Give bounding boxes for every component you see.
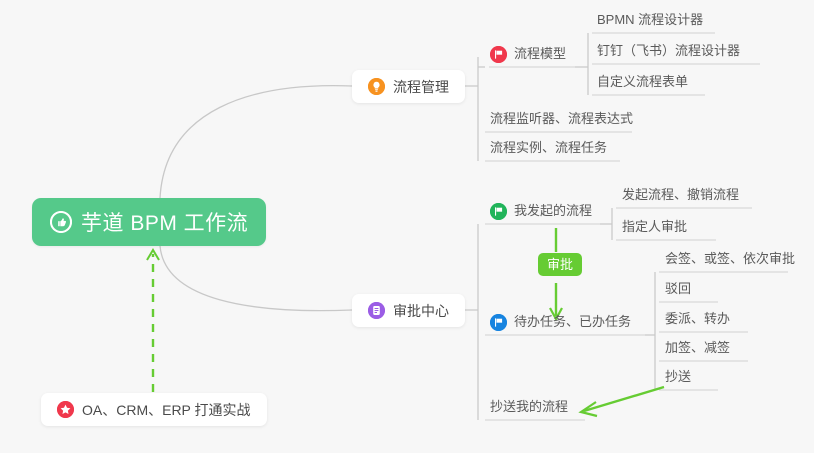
node-label-custom-process-form: 自定义流程表单	[597, 69, 688, 95]
root-node[interactable]: 芋道 BPM 工作流	[32, 198, 266, 246]
lightbulb-icon	[368, 78, 385, 95]
node-cc-to-me[interactable]: 抄送我的流程	[490, 394, 568, 420]
node-label-assignee-approval: 指定人审批	[622, 214, 687, 240]
mindmap-canvas: 芋道 BPM 工作流 OA、CRM、ERP 打通实战 流程管理	[0, 0, 814, 453]
thumbs-up-icon	[50, 211, 72, 233]
branch-node-approval-center[interactable]: 审批中心	[352, 294, 465, 327]
tag-approval[interactable]: 审批	[538, 253, 582, 276]
node-label-start-cancel-process: 发起流程、撤销流程	[622, 182, 739, 208]
node-bpmn-designer[interactable]: BPMN 流程设计器	[597, 7, 703, 33]
star-icon	[57, 401, 74, 418]
node-add-remove-sign[interactable]: 加签、减签	[665, 335, 730, 361]
node-listener-expression[interactable]: 流程监听器、流程表达式	[490, 106, 633, 132]
node-label-countersign: 会签、或签、依次审批	[665, 246, 795, 272]
note-node-integration[interactable]: OA、CRM、ERP 打通实战	[41, 393, 267, 426]
node-cc[interactable]: 抄送	[665, 364, 691, 390]
link-root-to-approval-center	[160, 246, 352, 311]
flag-green-icon	[490, 203, 507, 220]
arrowhead-note-to-root	[147, 250, 159, 260]
note-label: OA、CRM、ERP 打通实战	[82, 400, 251, 420]
node-start-cancel-process[interactable]: 发起流程、撤销流程	[622, 182, 739, 208]
flag-blue-icon	[490, 314, 507, 331]
node-instance-task[interactable]: 流程实例、流程任务	[490, 135, 607, 161]
arrow-cc-to-ccme	[584, 387, 664, 411]
arrowhead-cc-to-ccme	[581, 402, 597, 416]
node-label-todo-done-tasks: 待办任务、已办任务	[514, 309, 631, 335]
node-my-started-process[interactable]: 我发起的流程	[490, 198, 592, 224]
node-todo-done-tasks[interactable]: 待办任务、已办任务	[490, 309, 631, 335]
node-label-reject: 驳回	[665, 276, 691, 302]
link-root-to-process-management	[160, 86, 352, 198]
node-assignee-approval[interactable]: 指定人审批	[622, 214, 687, 240]
branch-label-process-management: 流程管理	[393, 77, 449, 97]
root-label: 芋道 BPM 工作流	[81, 207, 248, 237]
clipboard-icon	[368, 302, 385, 319]
node-process-model[interactable]: 流程模型	[490, 41, 566, 67]
node-label-my-started-process: 我发起的流程	[514, 198, 592, 224]
flag-red-icon	[490, 46, 507, 63]
node-label-dingtalk-feishu-designer: 钉钉（飞书）流程设计器	[597, 38, 740, 64]
node-label-listener-expression: 流程监听器、流程表达式	[490, 106, 633, 132]
node-label-process-model: 流程模型	[514, 41, 566, 67]
node-custom-process-form[interactable]: 自定义流程表单	[597, 69, 688, 95]
node-countersign[interactable]: 会签、或签、依次审批	[665, 246, 795, 272]
branch-node-process-management[interactable]: 流程管理	[352, 70, 465, 103]
node-label-delegate-transfer: 委派、转办	[665, 306, 730, 332]
node-label-instance-task: 流程实例、流程任务	[490, 135, 607, 161]
node-label-cc-to-me: 抄送我的流程	[490, 394, 568, 420]
branch-label-approval-center: 审批中心	[393, 301, 449, 321]
node-label-add-remove-sign: 加签、减签	[665, 335, 730, 361]
node-reject[interactable]: 驳回	[665, 276, 691, 302]
node-delegate-transfer[interactable]: 委派、转办	[665, 306, 730, 332]
node-dingtalk-feishu-designer[interactable]: 钉钉（飞书）流程设计器	[597, 38, 740, 64]
node-label-cc: 抄送	[665, 364, 691, 390]
node-label-bpmn-designer: BPMN 流程设计器	[597, 7, 703, 33]
